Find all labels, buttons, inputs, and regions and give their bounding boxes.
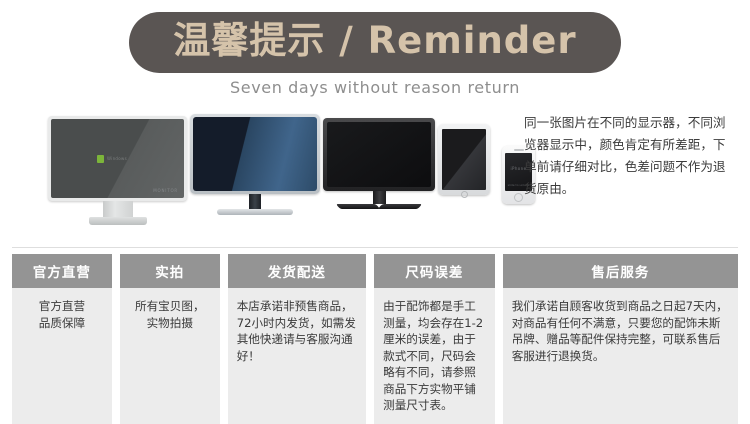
- table-column-real-shot: 实拍 所有宝贝图， 实物拍摄: [120, 254, 220, 424]
- monitor-base: [338, 204, 420, 214]
- table-column-shipping: 发货配送 本店承诺非预售商品，72小时内发货，如需发其他快递请与客服沟通好！: [228, 254, 366, 424]
- banner-title: 温馨提示 / Reminder: [173, 18, 576, 64]
- monitor-brand-text: MONITOR: [153, 188, 178, 193]
- column-body: 官方直营 品质保障: [12, 288, 112, 424]
- tablet-screen: [442, 129, 486, 190]
- column-header: 发货配送: [228, 254, 366, 288]
- banner-container: 温馨提示 / Reminder: [0, 12, 750, 73]
- section-divider: [12, 247, 738, 248]
- column-body: 所有宝贝图， 实物拍摄: [120, 288, 220, 424]
- desktop-monitor-black: [323, 118, 435, 214]
- monitor-neck: [373, 191, 386, 204]
- monitor-leg-right: [378, 204, 423, 209]
- table-column-size-tolerance: 尺码误差 由于配饰都是手工测量，均会存在1-2厘米的误差，由于款式不同，尺码会略…: [374, 254, 495, 424]
- banner-pill: 温馨提示 / Reminder: [129, 12, 620, 73]
- monitor-logo-text: Windows: [107, 156, 127, 161]
- desktop-monitor-blue: [190, 114, 320, 215]
- devices-illustration: Windows MONITOR: [40, 108, 535, 226]
- tablet-bezel: [438, 124, 490, 195]
- table-column-official: 官方直营 官方直营 品质保障: [12, 254, 112, 424]
- tablet-device: [438, 124, 490, 195]
- monitor-bezel: [323, 118, 435, 191]
- column-body: 由于配饰都是手工测量，均会存在1-2厘米的误差，由于款式不同，尺码会略有不同，请…: [374, 288, 495, 424]
- phone-speaker-icon: [514, 149, 524, 151]
- home-button-icon: [461, 191, 468, 198]
- column-header: 官方直营: [12, 254, 112, 288]
- monitor-bezel: Windows MONITOR: [48, 116, 187, 201]
- monitor-leg-left: [336, 204, 381, 209]
- monitor-neck: [249, 194, 261, 209]
- banner-subtitle: Seven days without reason return: [0, 78, 750, 97]
- color-difference-note: 同一张图片在不同的显示器，不同浏览器显示中，颜色肯定有所差距，下单前请仔细对比，…: [524, 112, 736, 200]
- column-body: 我们承诺自顾客收货到商品之日起7天内，对商品有任何不满意，只要您的配饰未斯吊牌、…: [503, 288, 738, 424]
- monitor-screen: [193, 117, 317, 191]
- table-column-after-sales: 售后服务 我们承诺自顾客收货到商品之日起7天内，对商品有任何不满意，只要您的配饰…: [503, 254, 738, 424]
- monitor-neck: [103, 201, 133, 217]
- column-body: 本店承诺非预售商品，72小时内发货，如需发其他快递请与客服沟通好！: [228, 288, 366, 424]
- monitor-base: [89, 217, 147, 225]
- monitor-base: [217, 209, 293, 215]
- monitor-screen: [327, 122, 431, 187]
- column-header: 实拍: [120, 254, 220, 288]
- column-header: 售后服务: [503, 254, 738, 288]
- windows-logo-icon: [97, 155, 104, 163]
- column-header: 尺码误差: [374, 254, 495, 288]
- home-button-icon: [514, 193, 523, 202]
- desktop-monitor-silver: Windows MONITOR: [48, 116, 187, 225]
- monitor-bezel: [190, 114, 320, 194]
- monitor-screen: Windows MONITOR: [51, 119, 184, 198]
- reminder-page: 温馨提示 / Reminder Seven days without reaso…: [0, 0, 750, 407]
- info-table: 官方直营 官方直营 品质保障 实拍 所有宝贝图， 实物拍摄 发货配送 本店承诺非…: [12, 254, 738, 424]
